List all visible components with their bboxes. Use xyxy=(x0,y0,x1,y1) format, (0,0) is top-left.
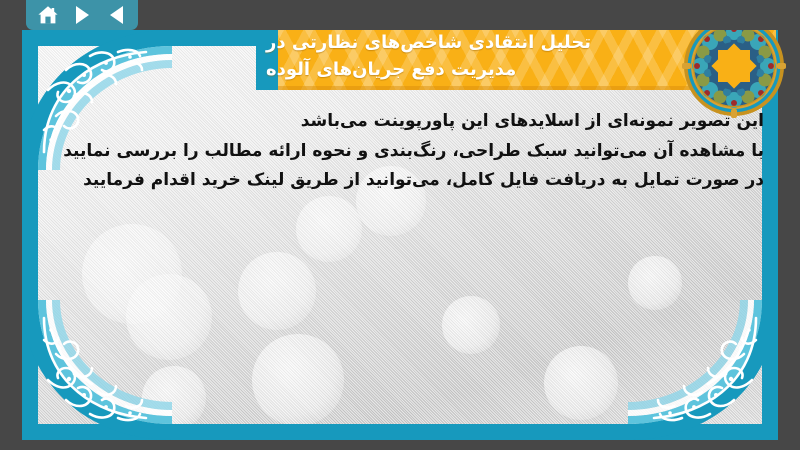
title-line-2: مدیریت دفع جریان‌های آلوده xyxy=(266,56,516,83)
title-line-1: تحلیل انتقادی شاخص‌های نظارتی در xyxy=(266,29,591,56)
bokeh-circle xyxy=(126,274,212,360)
bokeh-circle xyxy=(296,196,362,262)
home-icon xyxy=(37,5,59,25)
bokeh-circle xyxy=(442,296,500,354)
back-button[interactable] xyxy=(105,4,127,26)
bokeh-circle xyxy=(628,256,682,310)
slide-inner-panel xyxy=(38,46,762,424)
triangle-right-icon xyxy=(76,6,89,24)
bokeh-circle xyxy=(544,346,618,420)
title-banner: تحلیل انتقادی شاخص‌های نظارتی در مدیریت … xyxy=(256,22,776,90)
forward-button[interactable] xyxy=(71,4,93,26)
body-line: در صورت تمایل به دریافت فایل کامل، می‌تو… xyxy=(40,167,764,195)
bokeh-circle xyxy=(252,334,344,424)
navigation-bar xyxy=(0,0,800,30)
right-edge-strip xyxy=(762,120,778,440)
slide-canvas xyxy=(22,30,778,440)
bokeh-circle xyxy=(82,224,182,324)
navigation-pill xyxy=(26,0,138,30)
bokeh-circle xyxy=(238,252,316,330)
triangle-left-icon xyxy=(110,6,123,24)
slide-preview-window: تحلیل انتقادی شاخص‌های نظارتی در مدیریت … xyxy=(0,0,800,450)
slide-body-text: این تصویر نمونه‌ای از اسلایدهای این پاور… xyxy=(40,108,764,197)
body-line: با مشاهده آن می‌توانید سبک طراحی، رنگ‌بن… xyxy=(40,138,764,166)
bokeh-circle xyxy=(142,366,206,424)
body-line: این تصویر نمونه‌ای از اسلایدهای این پاور… xyxy=(40,108,764,136)
home-button[interactable] xyxy=(37,4,59,26)
